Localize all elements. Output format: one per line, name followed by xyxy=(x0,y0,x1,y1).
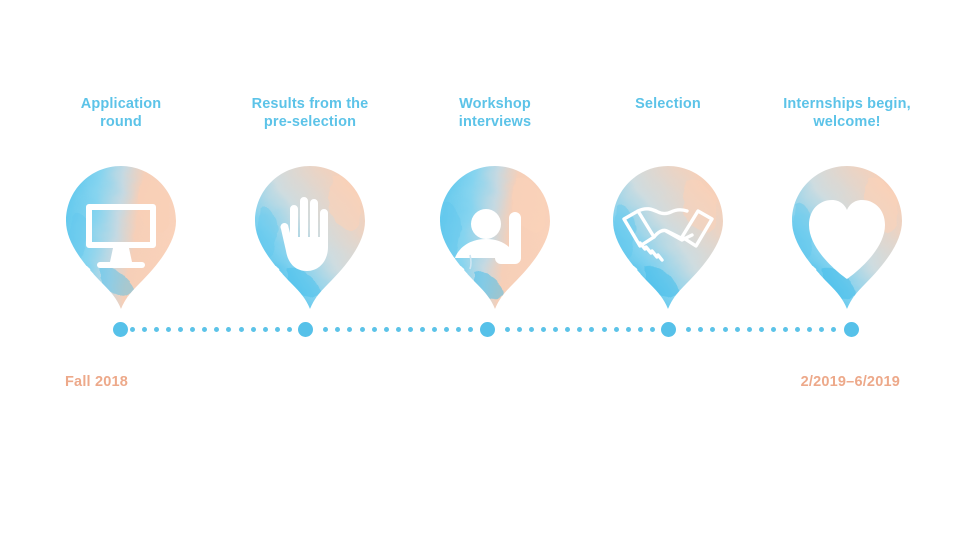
timeline-dot xyxy=(408,327,413,332)
stage-label: Results from the pre-selection xyxy=(210,95,410,131)
pin-selection xyxy=(610,163,726,313)
pin-results-pre-selection xyxy=(252,163,368,313)
timeline-dot xyxy=(154,327,159,332)
timeline-dot xyxy=(239,327,244,332)
timeline-track xyxy=(0,316,960,342)
timeline-dot xyxy=(166,327,171,332)
timeline-node-2[interactable] xyxy=(480,322,495,337)
timeline-dot xyxy=(178,327,183,332)
handshake-icon xyxy=(610,163,726,313)
timeline-node-1[interactable] xyxy=(298,322,313,337)
timeline-dot xyxy=(142,327,147,332)
infographic-canvas: Application round Results from the pre-s… xyxy=(0,0,960,540)
timeline-node-3[interactable] xyxy=(661,322,676,337)
timeline-dot xyxy=(323,327,328,332)
timeline-dot xyxy=(723,327,728,332)
stage-label: Application round xyxy=(21,95,221,131)
timeline-dot xyxy=(384,327,389,332)
timeline-dot xyxy=(505,327,510,332)
stage-label: Selection xyxy=(568,95,768,113)
timeline-dot xyxy=(263,327,268,332)
timeline-dot xyxy=(589,327,594,332)
timeline-dot xyxy=(565,327,570,332)
timeline-dot xyxy=(251,327,256,332)
timeline-dot xyxy=(287,327,292,332)
timeline-dot xyxy=(795,327,800,332)
raised-hand-icon xyxy=(252,163,368,313)
timeline-dot xyxy=(626,327,631,332)
timeline-node-0[interactable] xyxy=(113,322,128,337)
timeline-dot xyxy=(347,327,352,332)
timeline-dot xyxy=(650,327,655,332)
timeline-dot xyxy=(759,327,764,332)
timeline-dot xyxy=(444,327,449,332)
timeline-dot xyxy=(771,327,776,332)
timeline-dot xyxy=(226,327,231,332)
timeline-dot xyxy=(190,327,195,332)
timeline-dot xyxy=(214,327,219,332)
timeline-dot xyxy=(130,327,135,332)
stage-selection: Selection xyxy=(568,95,768,113)
timeline-dot xyxy=(335,327,340,332)
timeline-dot xyxy=(420,327,425,332)
heart-icon xyxy=(789,163,905,313)
timeline-dot xyxy=(468,327,473,332)
timeline-dot xyxy=(360,327,365,332)
date-end-label: 2/2019–6/2019 xyxy=(0,374,900,390)
timeline-dot xyxy=(747,327,752,332)
pin-internships-begin xyxy=(789,163,905,313)
timeline-dot xyxy=(529,327,534,332)
timeline-dot xyxy=(602,327,607,332)
pin-workshop-interviews xyxy=(437,163,553,313)
timeline-dot xyxy=(638,327,643,332)
stage-application-round: Application round xyxy=(21,95,221,131)
timeline-dot xyxy=(686,327,691,332)
timeline-dot xyxy=(614,327,619,332)
stage-workshop-interviews: Workshop interviews xyxy=(395,95,595,131)
stage-internships-begin: Internships begin, welcome! xyxy=(747,95,947,131)
interview-person-icon xyxy=(437,163,553,313)
timeline-dot xyxy=(710,327,715,332)
stage-label: Workshop interviews xyxy=(395,95,595,131)
timeline-dot xyxy=(807,327,812,332)
timeline-dot xyxy=(577,327,582,332)
timeline-dot xyxy=(396,327,401,332)
timeline-dot xyxy=(698,327,703,332)
monitor-icon xyxy=(63,163,179,313)
timeline-dot xyxy=(819,327,824,332)
timeline-dot xyxy=(831,327,836,332)
timeline-dot xyxy=(553,327,558,332)
timeline-dot xyxy=(735,327,740,332)
timeline-dot xyxy=(202,327,207,332)
timeline-dot xyxy=(456,327,461,332)
stage-results-pre-selection: Results from the pre-selection xyxy=(210,95,410,131)
timeline-dot xyxy=(541,327,546,332)
timeline-dot xyxy=(275,327,280,332)
timeline-dot xyxy=(517,327,522,332)
timeline-dot xyxy=(372,327,377,332)
timeline-node-4[interactable] xyxy=(844,322,859,337)
timeline-dot xyxy=(783,327,788,332)
pin-application-round xyxy=(63,163,179,313)
stage-label: Internships begin, welcome! xyxy=(747,95,947,131)
timeline-dot xyxy=(432,327,437,332)
